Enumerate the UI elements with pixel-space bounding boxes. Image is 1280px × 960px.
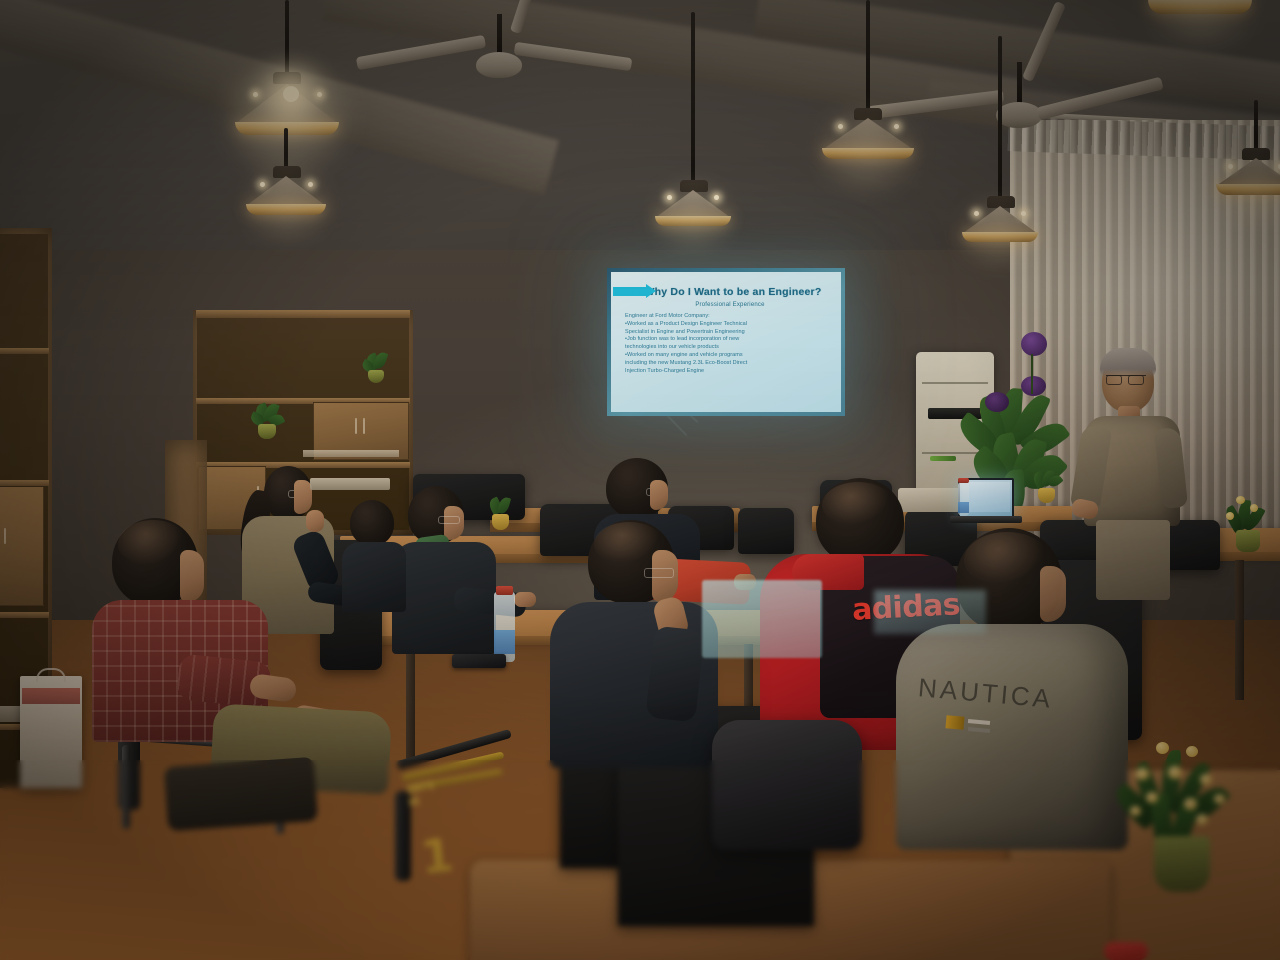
notebook[interactable]	[310, 478, 390, 490]
presenter-hair	[1100, 348, 1156, 378]
purple-bloom	[985, 392, 1009, 412]
student-face	[180, 550, 204, 602]
flower-pot	[1154, 836, 1210, 892]
projector-body	[898, 488, 960, 512]
laptop-screen-content	[962, 482, 1010, 512]
student-face	[650, 480, 668, 510]
classroom-scene: Why Do I Want to be an Engineer? Profess…	[0, 0, 1280, 960]
slide-bullet-list: Engineer at Ford Motor Company: •Worked …	[618, 313, 834, 375]
slide-bullet: Injection Turbo-Charged Engine	[625, 368, 834, 376]
slide-bullet: •Worked on many engine and vehicle progr…	[625, 352, 834, 360]
student-head	[350, 500, 394, 546]
plaid-student-leg	[164, 757, 318, 831]
purple-bloom	[1021, 332, 1047, 356]
paper-bag-handle	[36, 668, 66, 682]
water-bottle-table[interactable]	[494, 592, 515, 662]
slide-bullet: •Job function was to lead incorporation …	[625, 336, 834, 344]
student-arm	[645, 626, 704, 723]
student-hand	[306, 510, 324, 532]
water-bottle[interactable]	[958, 482, 969, 516]
slide-bullet: Engineer at Ford Motor Company:	[625, 313, 834, 321]
paper-bag-strap	[22, 688, 80, 704]
projection-screen: Why Do I Want to be an Engineer? Profess…	[607, 268, 845, 416]
ac-indicator	[930, 456, 956, 461]
glasses-icon	[644, 568, 674, 578]
bottle-cap	[496, 586, 513, 595]
chair-frame	[122, 745, 130, 829]
arrow-icon	[613, 287, 647, 296]
student-hand	[514, 592, 536, 607]
presentation-slide: Why Do I Want to be an Engineer? Profess…	[611, 272, 841, 412]
slide-subtitle: Professional Experience	[626, 302, 834, 308]
slide-bullet: technologies into our vehicle products	[625, 344, 834, 352]
chair[interactable]	[738, 508, 794, 554]
slide-bullet: •Worked as a Product Design Engineer Tec…	[625, 321, 834, 329]
laptop-base	[950, 516, 1022, 523]
glasses-icon	[438, 516, 460, 524]
slide-title: Why Do I Want to be an Engineer?	[632, 286, 834, 298]
student-face	[1040, 566, 1066, 622]
slide-bullet: Specialist in Engine and Powertrain Engi…	[625, 329, 834, 337]
purple-bloom	[1021, 376, 1046, 396]
nautica-flag-icon	[945, 715, 964, 730]
nautica-sweatshirt	[896, 624, 1128, 850]
glasses-lens	[1128, 375, 1144, 385]
glasses-lens	[1106, 375, 1122, 385]
student-jacket	[342, 542, 406, 612]
bike-number: 1	[418, 827, 455, 884]
cabinet-door[interactable]	[0, 486, 44, 606]
table-light-reflection	[874, 590, 986, 634]
bottle-cap	[958, 478, 969, 483]
presenter-trousers	[1096, 520, 1170, 600]
red-object[interactable]	[1104, 942, 1148, 960]
smartphone[interactable]	[452, 654, 506, 668]
table-light-reflection	[702, 580, 822, 658]
slide-bullet: including the new Mustang 2.3L Eco-Boost…	[625, 360, 834, 368]
backpack[interactable]	[712, 720, 862, 850]
shelf-papers	[303, 450, 399, 457]
